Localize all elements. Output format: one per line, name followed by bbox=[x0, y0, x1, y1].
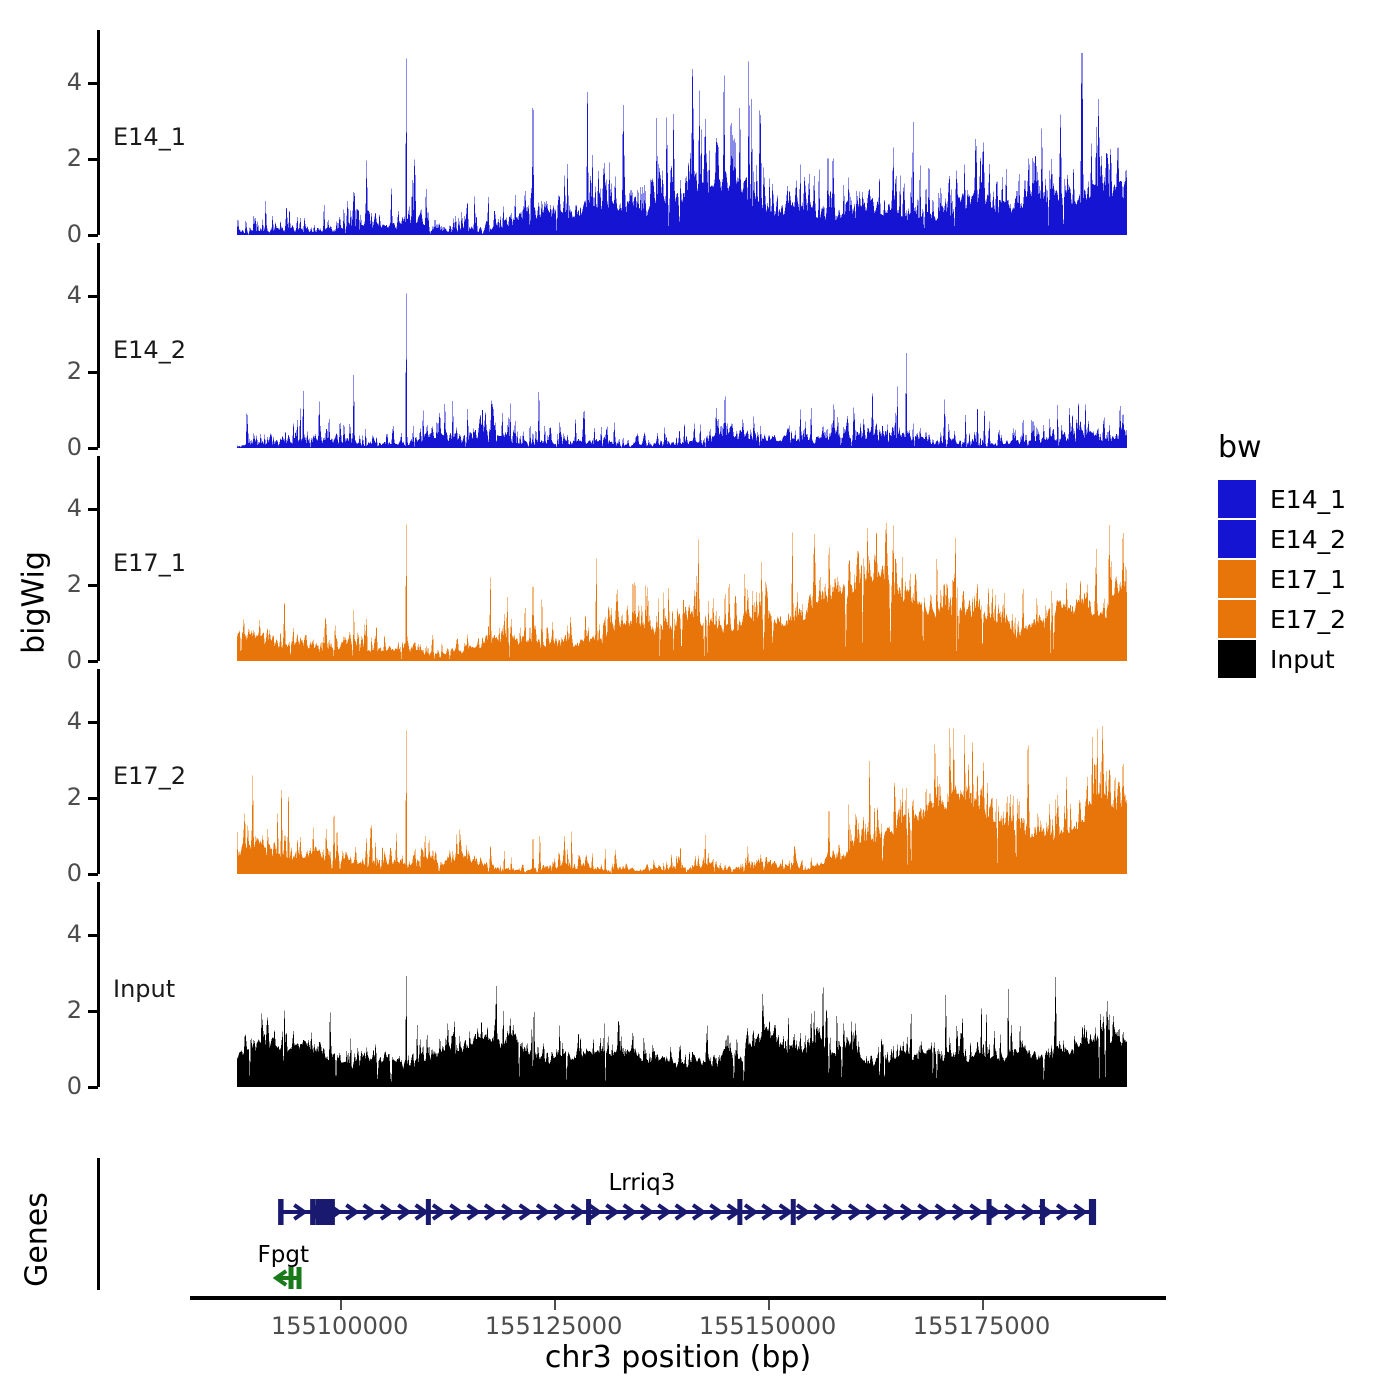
x-tick bbox=[340, 1300, 342, 1310]
track-label-e17_1: E17_1 bbox=[113, 549, 186, 577]
y-tick bbox=[88, 934, 98, 937]
y-tick bbox=[88, 371, 98, 374]
y-tick-label: 0 bbox=[48, 1074, 82, 1098]
y-tick-label: 4 bbox=[48, 709, 82, 733]
legend-swatch bbox=[1218, 520, 1256, 558]
y-tick-label: 4 bbox=[48, 70, 82, 94]
y-tick bbox=[88, 158, 98, 161]
track-panel-e17_2: 024E17_2 bbox=[0, 669, 1200, 874]
y-tick bbox=[88, 1010, 98, 1013]
y-axis-line bbox=[97, 243, 100, 448]
legend-title: bw bbox=[1218, 430, 1346, 465]
track-panel-e14_2: 024E14_2 bbox=[0, 243, 1200, 448]
x-tick-label: 155150000 bbox=[668, 1312, 868, 1340]
y-tick bbox=[88, 1086, 98, 1089]
y-axis-line bbox=[97, 669, 100, 874]
y-tick-label: 4 bbox=[48, 496, 82, 520]
legend-label: E17_2 bbox=[1270, 605, 1346, 634]
x-axis-line bbox=[190, 1296, 1166, 1300]
track-label-e17_2: E17_2 bbox=[113, 762, 186, 790]
y-tick bbox=[88, 721, 98, 724]
x-axis-title: chr3 position (bp) bbox=[190, 1340, 1166, 1375]
y-axis-line bbox=[97, 882, 100, 1087]
track-label-input: Input bbox=[113, 975, 175, 1003]
legend-label: E14_1 bbox=[1270, 485, 1346, 514]
y-tick-label: 4 bbox=[48, 922, 82, 946]
coverage-area-input bbox=[237, 882, 1127, 1087]
x-tick-label: 155125000 bbox=[454, 1312, 654, 1340]
y-tick-label: 2 bbox=[48, 998, 82, 1022]
legend: bw E14_1E14_2E17_1E17_2Input bbox=[1210, 430, 1346, 679]
y-axis-line bbox=[97, 30, 100, 235]
genes-axis-line bbox=[97, 1158, 100, 1290]
y-tick bbox=[88, 447, 98, 450]
svg-text:Lrriq3: Lrriq3 bbox=[608, 1170, 675, 1196]
coverage-area-e14_1 bbox=[237, 30, 1127, 235]
y-tick bbox=[88, 797, 98, 800]
y-tick-label: 2 bbox=[48, 146, 82, 170]
x-tick bbox=[982, 1300, 984, 1310]
y-tick bbox=[88, 660, 98, 663]
legend-label: E14_2 bbox=[1270, 525, 1346, 554]
legend-items: E14_1E14_2E17_1E17_2Input bbox=[1210, 479, 1346, 679]
y-tick-label: 4 bbox=[48, 283, 82, 307]
coverage-area-e17_2 bbox=[237, 669, 1127, 874]
y-tick-label: 2 bbox=[48, 572, 82, 596]
y-tick bbox=[88, 584, 98, 587]
gene-track-svg: Lrriq3Fpgt bbox=[237, 1150, 1237, 1300]
x-tick bbox=[554, 1300, 556, 1310]
legend-item-e14_1[interactable]: E14_1 bbox=[1210, 479, 1346, 519]
legend-swatch bbox=[1218, 560, 1256, 598]
legend-item-e17_1[interactable]: E17_1 bbox=[1210, 559, 1346, 599]
y-tick-label: 2 bbox=[48, 785, 82, 809]
legend-swatch bbox=[1218, 480, 1256, 518]
legend-swatch bbox=[1218, 640, 1256, 678]
y-tick-label: 2 bbox=[48, 359, 82, 383]
track-panel-e17_1: 024E17_1 bbox=[0, 456, 1200, 661]
y-tick bbox=[88, 508, 98, 511]
track-panel-e14_1: 024E14_1 bbox=[0, 30, 1200, 235]
y-tick bbox=[88, 873, 98, 876]
legend-label: Input bbox=[1270, 645, 1335, 674]
legend-label: E17_1 bbox=[1270, 565, 1346, 594]
coverage-area-e17_1 bbox=[237, 456, 1127, 661]
y-tick bbox=[88, 234, 98, 237]
svg-text:Fpgt: Fpgt bbox=[258, 1242, 309, 1268]
genome-browser-figure: bigWig Genes 024E14_1024E14_2024E17_1024… bbox=[0, 0, 1400, 1400]
legend-swatch bbox=[1218, 600, 1256, 638]
y-tick bbox=[88, 295, 98, 298]
track-label-e14_2: E14_2 bbox=[113, 336, 186, 364]
coverage-area-e14_2 bbox=[237, 243, 1127, 448]
track-label-e14_1: E14_1 bbox=[113, 123, 186, 151]
legend-item-e17_2[interactable]: E17_2 bbox=[1210, 599, 1346, 639]
legend-item-e14_2[interactable]: E14_2 bbox=[1210, 519, 1346, 559]
gene-annotation-track: Lrriq3Fpgt bbox=[0, 1150, 1200, 1310]
y-tick bbox=[88, 82, 98, 85]
x-tick-label: 155175000 bbox=[882, 1312, 1082, 1340]
legend-item-input[interactable]: Input bbox=[1210, 639, 1346, 679]
track-panel-input: 024Input bbox=[0, 882, 1200, 1087]
y-axis-line bbox=[97, 456, 100, 661]
x-tick-label: 155100000 bbox=[240, 1312, 440, 1340]
x-tick bbox=[768, 1300, 770, 1310]
